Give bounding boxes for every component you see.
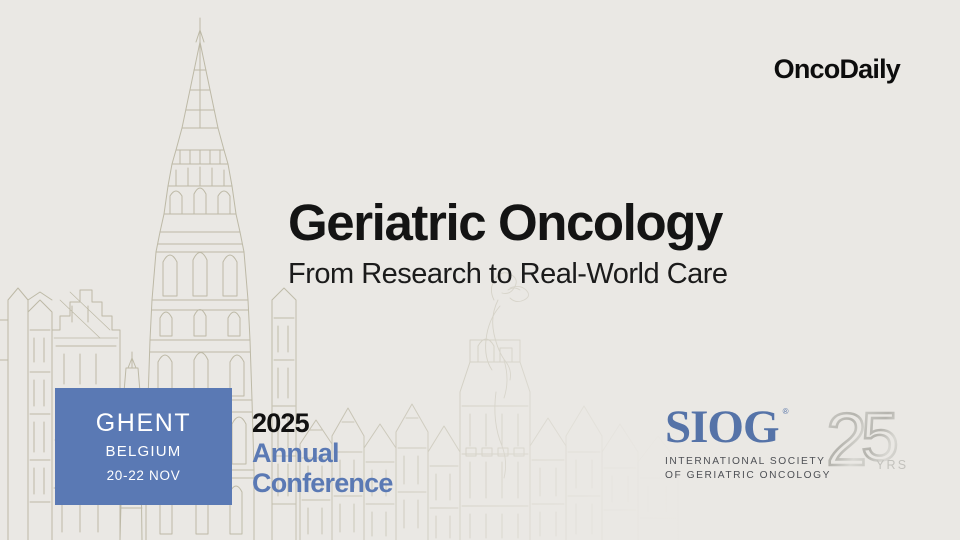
- page-title: Geriatric Oncology: [288, 196, 888, 250]
- page-subtitle: From Research to Real-World Care: [288, 259, 888, 291]
- siog-tagline-line1: INTERNATIONAL SOCIETY: [665, 455, 831, 469]
- registered-trademark-icon: ®: [783, 408, 788, 416]
- conference-year: 2025: [252, 410, 393, 437]
- anniversary-unit-label: YRS: [876, 459, 908, 472]
- conference-title-block: 2025 Annual Conference: [252, 410, 393, 497]
- siog-acronym-text: SIOG: [665, 401, 779, 453]
- conference-slide: OncoDaily Geriatric Oncology From Resear…: [0, 0, 960, 540]
- conference-name-line2: Conference: [252, 470, 393, 497]
- headline-block: Geriatric Oncology From Research to Real…: [288, 196, 888, 290]
- anniversary-badge: 2 5 YRS: [828, 402, 918, 482]
- siog-logo[interactable]: SIOG® INTERNATIONAL SOCIETY OF GERIATRIC…: [665, 404, 915, 486]
- siog-tagline-line2: OF GERIATRIC ONCOLOGY: [665, 469, 831, 483]
- siog-logo-main: SIOG® INTERNATIONAL SOCIETY OF GERIATRIC…: [665, 404, 831, 483]
- siog-acronym: SIOG®: [665, 404, 779, 451]
- location-country: BELGIUM: [106, 444, 182, 459]
- oncodaily-logo[interactable]: OncoDaily: [774, 56, 900, 83]
- conference-name-line1: Annual: [252, 440, 393, 467]
- location-city: GHENT: [96, 411, 192, 436]
- location-card: GHENT BELGIUM 20-22 NOV: [55, 388, 232, 505]
- location-dates: 20-22 NOV: [107, 469, 181, 483]
